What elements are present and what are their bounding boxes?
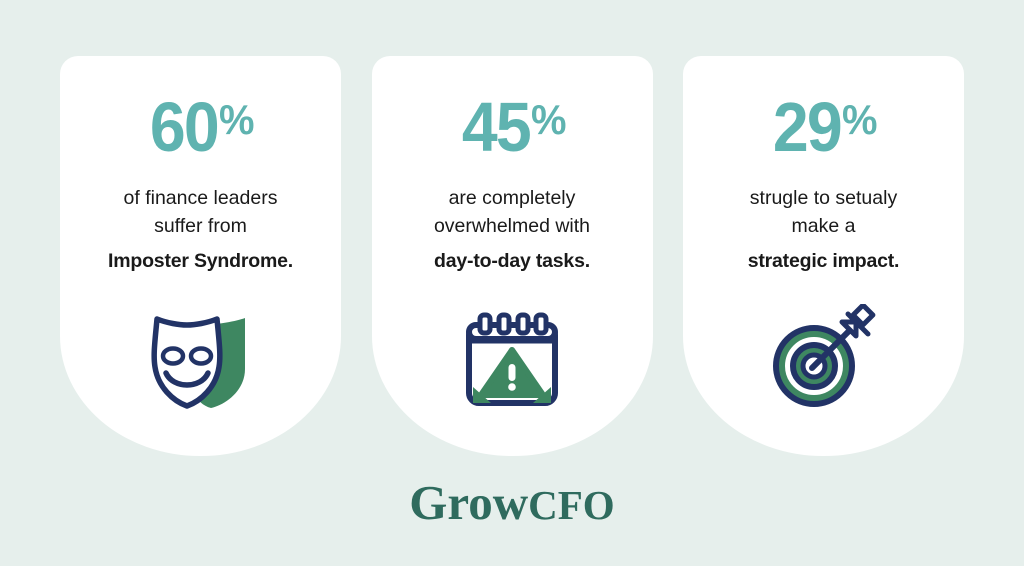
percent-sign: % (842, 99, 877, 141)
percentage-display: 29 % (767, 98, 879, 158)
calendar-warning-icon (457, 307, 567, 412)
card-caption: strugle to setualy make a strategic impa… (736, 184, 912, 276)
target-arrow-icon (764, 304, 884, 414)
caption-line-1: are completely (434, 184, 590, 213)
percent-sign: % (219, 99, 254, 141)
caption-line-3-emphasis: day-to-day tasks. (434, 247, 590, 276)
brand-logo: GrowCFO (0, 478, 1024, 527)
stat-card-row: 60 % of finance leaders suffer from Impo… (60, 56, 964, 456)
stat-card-daily-tasks: 45 % are completely overwhelmed with day… (372, 56, 653, 456)
percentage-number: 45 (462, 98, 530, 158)
percentage-number: 29 (773, 98, 841, 158)
percent-sign: % (531, 99, 566, 141)
percentage-number: 60 (150, 98, 218, 158)
card-icon-slot (683, 304, 964, 414)
caption-line-2: make a (748, 212, 900, 241)
brand-name: GrowCFO (409, 475, 614, 530)
card-icon-slot (372, 304, 653, 414)
caption-line-2: overwhelmed with (434, 212, 590, 241)
caption-line-3-emphasis: strategic impact. (748, 247, 900, 276)
brand-name-grow: Grow (409, 475, 528, 530)
brand-name-cfo: CFO (528, 482, 615, 528)
percentage-display: 45 % (456, 98, 568, 158)
card-caption: of finance leaders suffer from Imposter … (96, 184, 305, 276)
stat-card-strategic-impact: 29 % strugle to setualy make a strategic… (683, 56, 964, 456)
percentage-display: 60 % (144, 98, 256, 158)
card-icon-slot (60, 304, 341, 414)
caption-line-2: suffer from (108, 212, 293, 241)
theatre-mask-icon (141, 307, 261, 412)
caption-line-3-emphasis: Imposter Syndrome. (108, 247, 293, 276)
infographic-root: 60 % of finance leaders suffer from Impo… (0, 0, 1024, 566)
caption-line-1: strugle to setualy (748, 184, 900, 213)
caption-line-1: of finance leaders (108, 184, 293, 213)
card-caption: are completely overwhelmed with day-to-d… (422, 184, 602, 276)
stat-card-imposter-syndrome: 60 % of finance leaders suffer from Impo… (60, 56, 341, 456)
